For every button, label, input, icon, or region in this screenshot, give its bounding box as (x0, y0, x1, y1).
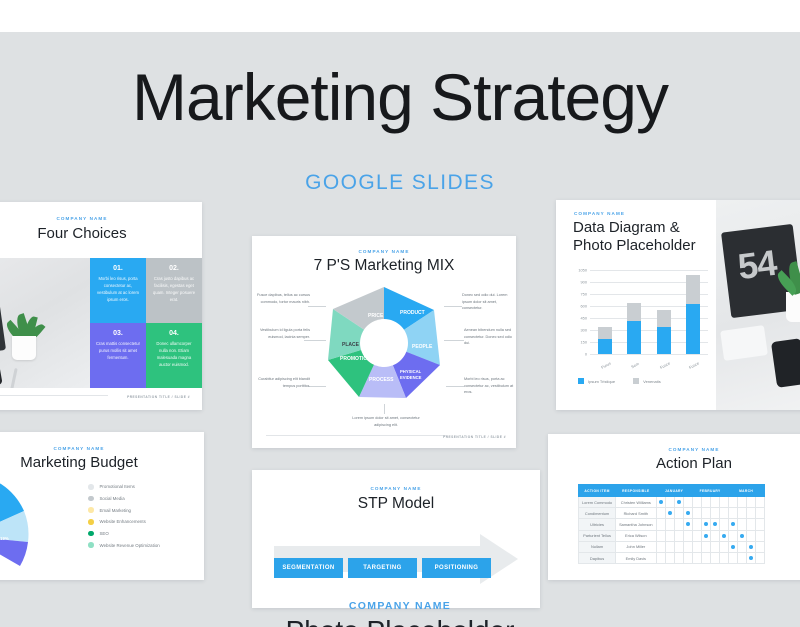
preview-stage: Marketing Strategy GOOGLE SLIDES COMPANY… (0, 0, 800, 627)
budget-legend: Promotional Items Social Media Email Mar… (88, 484, 160, 554)
stp-step-label: SEGMENTATION (282, 565, 334, 571)
slide-title: STP Model (252, 495, 540, 513)
cell-timeline (674, 519, 683, 530)
cell-timeline (665, 497, 674, 508)
marketing-mix-diagram: PRODUCT PEOPLE PHYSICAL EVIDENCE PROCESS… (252, 282, 516, 432)
legend-label: Website Revenue Optimization (100, 543, 160, 548)
cell-responsible: Christen Williams (616, 497, 657, 508)
cell-timeline (710, 552, 719, 563)
cell-timeline (746, 552, 755, 563)
slide-title: Action Plan (548, 455, 800, 472)
choice-number: 04. (152, 330, 196, 337)
x-axis-tick-label: Fusce (684, 358, 705, 373)
y-axis-tick-label: 600 (570, 304, 587, 309)
company-name-label: COMPANY NAME (548, 447, 800, 452)
cell-action-item: Nullam (579, 541, 616, 552)
bar-group (657, 310, 671, 354)
notebook-shape (720, 325, 768, 361)
y-axis-tick-label: 300 (570, 328, 587, 333)
table-row[interactable]: NullamJohn Miller (579, 541, 765, 552)
cell-action-item: Condimentum (579, 508, 616, 519)
cell-responsible: Richard Smith (616, 508, 657, 519)
timeline-dot (713, 522, 717, 526)
y-axis-tick-label: 750 (570, 292, 587, 297)
photo-placeholder-image: 4 (0, 258, 90, 388)
bottom-slide-title: Photo Placeholder (0, 615, 800, 627)
company-name-label: COMPANY NAME (252, 249, 516, 254)
slide-data-diagram[interactable]: COMPANY NAME Data Diagram & Photo Placeh… (556, 200, 800, 410)
cell-action-item: Ultricies (579, 519, 616, 530)
svg-text:PRODUCT: PRODUCT (400, 310, 425, 316)
cell-timeline (710, 519, 719, 530)
cell-timeline (683, 497, 692, 508)
col-january: JANUARY (656, 485, 692, 497)
cell-timeline (710, 497, 719, 508)
legend-dot (88, 519, 94, 525)
cell-timeline (719, 497, 728, 508)
legend-label: Ipsum Tristique (588, 379, 615, 384)
legend-dot (88, 531, 94, 537)
leader-line (308, 386, 326, 387)
table-row[interactable]: UltriciesSamantha Johnson (579, 519, 765, 530)
choice-cell-03[interactable]: 03. Cras mattis consectetur purus mollis… (90, 323, 146, 388)
stp-step-segmentation[interactable]: SEGMENTATION (274, 558, 343, 578)
stp-step-label: TARGETING (363, 565, 402, 571)
leader-line (446, 386, 464, 387)
svg-text:PEOPLE: PEOPLE (412, 344, 433, 350)
cell-timeline (692, 541, 701, 552)
y-axis-tick-label: 0 (570, 352, 587, 357)
slide-stp-model[interactable]: COMPANY NAME STP Model SEGMENTATION TARG… (252, 470, 540, 608)
slide-action-plan[interactable]: COMPANY NAME Action Plan ACTION ITEM RES… (548, 434, 800, 580)
cell-timeline (710, 508, 719, 519)
cell-timeline (728, 552, 737, 563)
gridline (590, 354, 708, 355)
legend-label: Venenatis (643, 379, 661, 384)
cell-timeline (737, 541, 746, 552)
cell-timeline (719, 541, 728, 552)
choice-cell-04[interactable]: 04. Donec ullamcorper nulla non. Etiam m… (146, 323, 202, 388)
cell-timeline (656, 519, 665, 530)
x-axis-tick-label: Sem (625, 358, 646, 373)
bar-chart: 01503004506007509001050 PurusSemFusceFus… (570, 266, 712, 366)
slide-footer: PRESENTATION TITLE / SLIDE # (127, 395, 190, 399)
timeline-dot (731, 545, 735, 549)
budget-legend-item[interactable]: Email Marketing (88, 507, 160, 513)
cell-timeline (692, 519, 701, 530)
choice-number: 02. (152, 265, 196, 272)
plant-pot-shape (786, 292, 800, 322)
mix-note-left-3: Curabitur adipiscing elit blandit tempus… (254, 376, 310, 389)
cell-timeline (692, 552, 701, 563)
mix-note-left-2: Vestibulum id ligula porta felis euismod… (254, 327, 310, 340)
bottom-company-name: COMPANY NAME (0, 600, 800, 612)
timeline-dot (704, 534, 708, 538)
bar-segment-venenatis (598, 327, 612, 339)
bar-segment-ipsum-tristique (627, 321, 641, 354)
choice-text: Morbi leo risus, porta consectetur ac, v… (96, 276, 140, 304)
cell-timeline (665, 519, 674, 530)
budget-legend-item[interactable]: SEO (88, 531, 160, 537)
cell-timeline (755, 541, 764, 552)
cell-timeline (719, 508, 728, 519)
cell-timeline (701, 552, 710, 563)
cell-timeline (719, 519, 728, 530)
cell-timeline (755, 497, 764, 508)
timeline-dot (731, 522, 735, 526)
mix-note-bottom: Lorem ipsum dolor sit amet, consectetur … (348, 415, 424, 428)
action-plan-table: ACTION ITEM RESPONSIBLE JANUARY FEBRUARY… (578, 484, 765, 564)
stp-step-label: POSITIONING (435, 565, 479, 571)
col-february: FEBRUARY (692, 485, 728, 497)
cell-timeline (656, 508, 665, 519)
table-row[interactable]: DapibusEmily Davis (579, 552, 765, 563)
cell-timeline (728, 541, 737, 552)
stp-step-positioning[interactable]: POSITIONING (422, 558, 491, 578)
table-header-row: ACTION ITEM RESPONSIBLE JANUARY FEBRUARY… (579, 485, 765, 497)
slide-title: Four Choices (0, 225, 202, 242)
bar-segment-ipsum-tristique (686, 304, 700, 354)
legend-label: Website Enhancements (100, 519, 146, 524)
cell-timeline (719, 530, 728, 541)
x-axis-tick-label: Purus (595, 358, 616, 373)
cell-timeline (737, 530, 746, 541)
bar-segment-venenatis (686, 275, 700, 304)
cell-timeline (665, 530, 674, 541)
company-name-label: COMPANY NAME (0, 446, 204, 451)
bar-group (598, 327, 612, 354)
cell-timeline (755, 530, 764, 541)
svg-text:EVIDENCE: EVIDENCE (400, 375, 422, 380)
svg-text:PRICE: PRICE (368, 313, 384, 319)
y-axis-tick-label: 1050 (570, 268, 587, 273)
company-name-label: COMPANY NAME (252, 486, 540, 491)
y-axis-tick-label: 450 (570, 316, 587, 321)
cell-timeline (683, 552, 692, 563)
chart-legend: Ipsum Tristique Venenatis (578, 378, 661, 384)
cell-timeline (746, 497, 755, 508)
cell-timeline (710, 530, 719, 541)
mix-note-right-2: Aenean bibendum nulla sed consectetur. D… (464, 327, 514, 347)
leader-line (444, 306, 462, 307)
phone-shape (771, 338, 800, 388)
timeline-dot (668, 511, 672, 515)
y-axis-tick-label: 900 (570, 280, 587, 285)
choice-text: Donec ullamcorper nulla non. Etiam males… (152, 341, 196, 369)
plant-pot-shape (12, 336, 36, 360)
legend-label: SEO (100, 531, 109, 536)
footer-divider (266, 435, 446, 436)
slide-title: 7 P'S Marketing MIX (252, 257, 516, 275)
cell-timeline (728, 519, 737, 530)
budget-legend-item[interactable]: Website Enhancements (88, 519, 160, 525)
choice-text: Cras justo dapibus ac facilisis, egestas… (152, 276, 196, 304)
cell-timeline (692, 497, 701, 508)
cell-timeline (683, 541, 692, 552)
cell-timeline (755, 519, 764, 530)
stp-step-targeting[interactable]: TARGETING (348, 558, 417, 578)
choice-number: 01. (96, 265, 140, 272)
company-name-label: COMPANY NAME (0, 216, 202, 221)
cell-timeline (746, 508, 755, 519)
cell-timeline (737, 519, 746, 530)
timeline-dot (749, 556, 753, 560)
slide-four-choices[interactable]: COMPANY NAME Four Choices 4 01. Morbi le… (0, 202, 202, 410)
table-row[interactable]: Parturient TellusErica Wilson (579, 530, 765, 541)
table-body: Lorem CommodoChristen WilliamsCondimentu… (579, 497, 765, 564)
cell-timeline (683, 508, 692, 519)
budget-legend-item[interactable]: Social Media (88, 496, 160, 502)
cell-timeline (683, 530, 692, 541)
laptop-shape (0, 288, 6, 357)
cell-timeline (692, 508, 701, 519)
cell-timeline (701, 497, 710, 508)
svg-text:PROMOTION: PROMOTION (340, 356, 371, 362)
choice-text: Cras mattis consectetur purus mollis sit… (96, 341, 140, 362)
legend-dot (88, 542, 94, 548)
phone-shape (0, 353, 3, 388)
pen-shape (9, 368, 17, 388)
slide-title: Data Diagram & Photo Placeholder (573, 219, 703, 256)
y-axis-tick-label: 150 (570, 340, 587, 345)
cell-timeline (665, 552, 674, 563)
cell-timeline (737, 552, 746, 563)
legend-dot (88, 484, 94, 490)
leader-line (384, 404, 385, 414)
cell-timeline (728, 508, 737, 519)
timeline-dot (659, 500, 663, 504)
bar-segment-venenatis (657, 310, 671, 327)
legend-swatch (633, 378, 639, 384)
heptagon-diagram-svg: PRODUCT PEOPLE PHYSICAL EVIDENCE PROCESS… (324, 284, 444, 402)
legend-swatch (578, 378, 584, 384)
slide-title: Marketing Budget (0, 454, 204, 471)
svg-text:PHYSICAL: PHYSICAL (400, 369, 422, 374)
choice-cell-02[interactable]: 02. Cras justo dapibus ac facilisis, ege… (146, 258, 202, 323)
cell-timeline (746, 541, 755, 552)
cell-timeline (737, 508, 746, 519)
cell-timeline (728, 530, 737, 541)
cell-action-item: Lorem Commodo (579, 497, 616, 508)
cell-timeline (674, 497, 683, 508)
footer-divider (0, 395, 108, 396)
cell-timeline (665, 541, 674, 552)
cell-timeline (674, 541, 683, 552)
timeline-dot (704, 522, 708, 526)
bar-segment-venenatis (627, 303, 641, 321)
cell-timeline (701, 530, 710, 541)
col-march: MARCH (728, 485, 764, 497)
cell-timeline (701, 519, 710, 530)
cell-responsible: Emily Davis (616, 552, 657, 563)
cell-timeline (728, 497, 737, 508)
slide-marketing-mix[interactable]: COMPANY NAME 7 P'S Marketing MIX PRODUCT… (252, 236, 516, 448)
bar-segment-ipsum-tristique (657, 327, 671, 354)
bar-group (686, 275, 700, 354)
table-head: ACTION ITEM RESPONSIBLE JANUARY FEBRUARY… (579, 485, 765, 497)
cell-timeline (674, 552, 683, 563)
cell-timeline (710, 541, 719, 552)
page-subtitle: GOOGLE SLIDES (0, 171, 800, 195)
budget-legend-item[interactable]: Website Revenue Optimization (88, 542, 160, 548)
svg-text:PLACE: PLACE (342, 342, 360, 348)
cell-timeline (755, 552, 764, 563)
cell-responsible: Samantha Johnson (616, 519, 657, 530)
slide-marketing-budget[interactable]: COMPANY NAME Marketing Budget 25% 19% Pr… (0, 432, 204, 580)
cell-action-item: Dapibus (579, 552, 616, 563)
legend-label: Social Media (100, 496, 125, 501)
svg-text:PROCESS: PROCESS (369, 377, 394, 383)
timeline-dot (677, 500, 681, 504)
cell-responsible: John Miller (616, 541, 657, 552)
table-row[interactable]: CondimentumRichard Smith (579, 508, 765, 519)
timeline-dot (722, 534, 726, 538)
bar-segment-ipsum-tristique (598, 339, 612, 354)
timeline-dot (749, 545, 753, 549)
gridline (590, 270, 708, 271)
photo-placeholder-image: 54 (716, 200, 800, 410)
legend-dot (88, 496, 94, 502)
cell-timeline (656, 530, 665, 541)
cell-responsible: Erica Wilson (616, 530, 657, 541)
page-title: Marketing Strategy (0, 63, 800, 132)
cell-timeline (674, 508, 683, 519)
cell-timeline (692, 530, 701, 541)
legend-item-ipsum-tristique: Ipsum Tristique (578, 378, 615, 384)
laptop-number-text: 54 (736, 242, 779, 288)
table-row[interactable]: Lorem CommodoChristen Williams (579, 497, 765, 508)
cell-timeline (746, 530, 755, 541)
cell-timeline (656, 552, 665, 563)
cell-timeline (656, 497, 665, 508)
legend-label: Promotional Items (100, 484, 135, 489)
cell-timeline (674, 530, 683, 541)
mix-note-left-1: Fusce dapibus, tellus ac cursus commodo,… (254, 292, 310, 305)
bar-group (627, 303, 641, 354)
legend-label: Email Marketing (100, 508, 131, 513)
cell-timeline (737, 497, 746, 508)
cell-timeline (746, 519, 755, 530)
pie-chart-svg (0, 480, 48, 580)
mix-note-right-3: Morbi leo risus, porta ac consectetur ac… (464, 376, 514, 396)
cell-timeline (719, 552, 728, 563)
cell-timeline (683, 519, 692, 530)
mix-note-right-1: Donec sed odio dui. Lorem ipsum dolor si… (462, 292, 514, 312)
slide-footer: PRESENTATION TITLE / SLIDE # (443, 435, 506, 439)
budget-pie-chart: 25% 19% (0, 480, 48, 580)
choice-cell-01[interactable]: 01. Morbi leo risus, porta consectetur a… (90, 258, 146, 323)
leader-line (308, 306, 326, 307)
timeline-dot (686, 522, 690, 526)
timeline-dot (686, 511, 690, 515)
budget-legend-item[interactable]: Promotional Items (88, 484, 160, 490)
leader-line (444, 340, 464, 341)
timeline-dot (740, 534, 744, 538)
x-axis-tick-label: Fusce (654, 358, 675, 373)
four-choices-grid: 01. Morbi leo risus, porta consectetur a… (90, 258, 202, 388)
col-responsible: RESPONSIBLE (616, 485, 657, 497)
cell-timeline (701, 541, 710, 552)
pie-slice-label-2: 19% (0, 536, 9, 541)
cell-timeline (701, 508, 710, 519)
cell-action-item: Parturient Tellus (579, 530, 616, 541)
legend-item-venenatis: Venenatis (633, 378, 661, 384)
col-action-item: ACTION ITEM (579, 485, 616, 497)
legend-dot (88, 507, 94, 513)
cell-timeline (665, 508, 674, 519)
choice-number: 03. (96, 330, 140, 337)
cell-timeline (656, 541, 665, 552)
cell-timeline (755, 508, 764, 519)
